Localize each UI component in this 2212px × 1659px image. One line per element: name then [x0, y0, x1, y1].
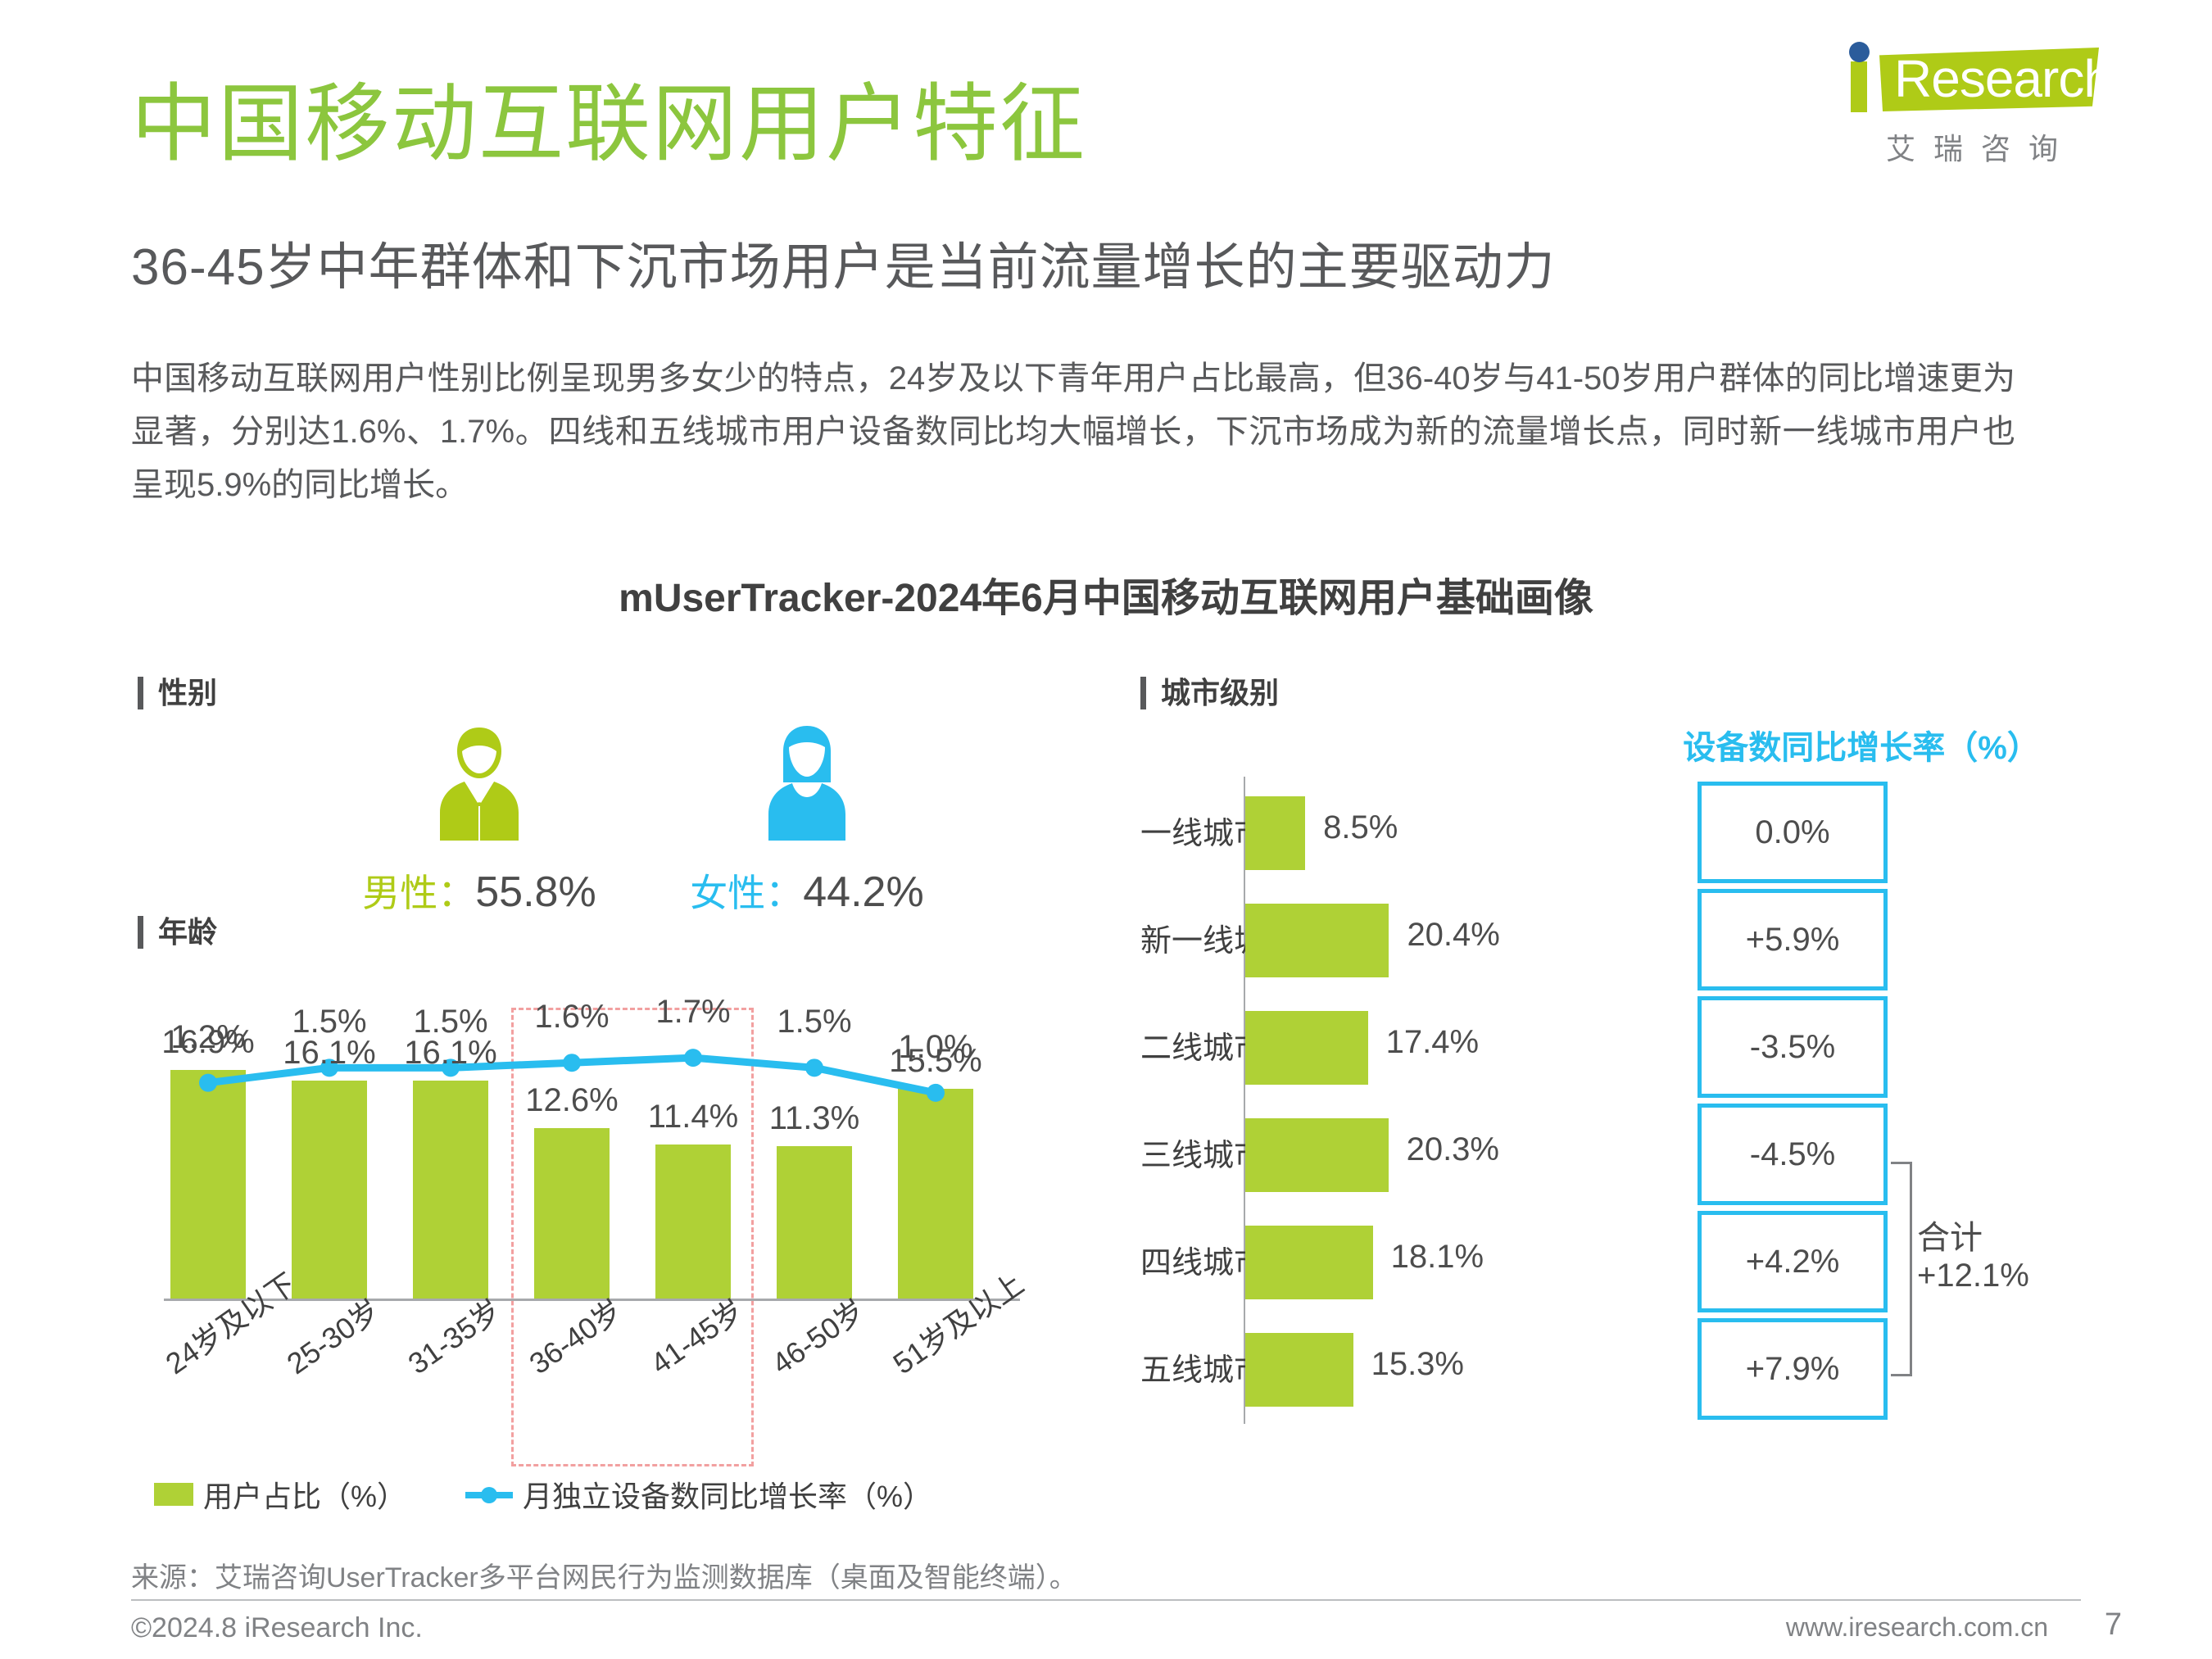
- age-bar-value: 11.4%: [628, 1099, 759, 1135]
- city-row: 五线城市15.3%+7.9%: [1140, 1315, 2164, 1423]
- age-bar-value: 12.6%: [506, 1082, 637, 1119]
- source-note: 来源：艾瑞咨询UserTracker多平台网民行为监测数据库（桌面及智能终端）。: [131, 1555, 1077, 1595]
- male-person-icon: [344, 721, 614, 844]
- city-bar: [1245, 1333, 1353, 1407]
- gender-female-label: 女性：44.2%: [672, 863, 942, 918]
- female-person-icon: [672, 721, 942, 844]
- age-line-value: 1.5%: [264, 1004, 395, 1040]
- city-growth-header: 设备数同比增长率（%）: [1648, 721, 2074, 768]
- city-growth-box: +5.9%: [1698, 889, 1888, 990]
- city-chart: 设备数同比增长率（%） 一线城市8.5%0.0%新一线城市20.4%+5.9%二…: [1140, 721, 2164, 1442]
- legend-item-bar: 用户占比（%）: [154, 1473, 406, 1516]
- legend-bar-label: 用户占比（%）: [203, 1473, 406, 1516]
- city-label: 一线城市: [1140, 808, 1232, 853]
- city-total-bracket-icon: [1891, 1162, 1912, 1376]
- city-total: 合计 +12.1%: [1917, 1219, 2114, 1294]
- page-title: 中国移动互联网用户特征: [131, 78, 1086, 171]
- city-row: 二线城市17.4%-3.5%: [1140, 993, 2164, 1101]
- city-bar-value: 15.3%: [1371, 1346, 1464, 1383]
- age-line-point: [805, 1058, 823, 1077]
- city-bar-value: 8.5%: [1323, 809, 1398, 846]
- city-label: 新一线城市: [1140, 915, 1232, 960]
- city-total-label: 合计: [1917, 1219, 2114, 1257]
- footer-divider: [131, 1599, 2081, 1601]
- city-growth-box: +4.2%: [1698, 1211, 1888, 1312]
- age-line-value: 1.6%: [506, 999, 637, 1036]
- gender-female: 女性：44.2%: [672, 721, 942, 918]
- page-number: 7: [2105, 1607, 2122, 1643]
- gender-male-label: 男性：55.8%: [344, 863, 614, 918]
- age-line-value: 1.5%: [385, 1004, 516, 1040]
- city-total-value: +12.1%: [1917, 1257, 2114, 1294]
- gender-male: 男性：55.8%: [344, 721, 614, 918]
- gender-female-value: 44.2%: [803, 868, 923, 916]
- age-line-point: [563, 1054, 581, 1072]
- city-label: 三线城市: [1140, 1130, 1232, 1175]
- age-line-value: 1.2%: [143, 1019, 274, 1056]
- city-bar: [1245, 1226, 1373, 1299]
- gender-section: 男性：55.8% 女性：44.2%: [131, 705, 1032, 918]
- city-row: 一线城市8.5%0.0%: [1140, 778, 2164, 886]
- city-bar: [1245, 904, 1389, 977]
- city-label: 五线城市: [1140, 1344, 1232, 1389]
- city-bar: [1245, 1118, 1389, 1192]
- city-growth-box: -4.5%: [1698, 1104, 1888, 1205]
- city-row: 新一线城市20.4%+5.9%: [1140, 886, 2164, 994]
- logo-letter-i-stem: [1851, 61, 1867, 112]
- city-growth-box: -3.5%: [1698, 996, 1888, 1098]
- page-header: 中国移动互联网用户特征 36-45岁中年群体和下沉市场用户是当前流量增长的主要驱…: [0, 0, 2212, 328]
- section-label-city: 城市级别: [1140, 677, 1279, 709]
- legend-line-marker-icon: [465, 1483, 513, 1506]
- logo-letter-i-dot-icon: [1849, 42, 1870, 62]
- gender-female-name: 女性：: [690, 872, 803, 914]
- gender-male-value: 55.8%: [475, 868, 596, 916]
- age-line-point: [199, 1074, 217, 1092]
- age-line-value: 1.7%: [628, 994, 759, 1031]
- city-bar-value: 18.1%: [1391, 1239, 1484, 1276]
- city-growth-box: 0.0%: [1698, 782, 1888, 883]
- city-bar-value: 20.4%: [1407, 917, 1499, 954]
- logo-wordmark: Research: [1894, 49, 2112, 108]
- legend-bar-swatch-icon: [154, 1483, 193, 1506]
- age-legend: 用户占比（%） 月独立设备数同比增长率（%）: [154, 1473, 1088, 1522]
- city-bar-value: 17.4%: [1386, 1024, 1479, 1061]
- city-bar: [1245, 1011, 1368, 1085]
- page-subtitle: 36-45岁中年群体和下沉市场用户是当前流量增长的主要驱动力: [131, 225, 1556, 299]
- city-row: 三线城市20.3%-4.5%: [1140, 1100, 2164, 1208]
- logo-mark: Research: [1843, 39, 2105, 117]
- age-bar-value: 11.3%: [749, 1100, 880, 1137]
- copyright: ©2024.8 iResearch Inc.: [131, 1612, 423, 1644]
- age-line-value: 1.5%: [749, 1004, 880, 1040]
- legend-item-line: 月独立设备数同比增长率（%）: [465, 1473, 932, 1516]
- legend-line-label: 月独立设备数同比增长率（%）: [523, 1473, 932, 1516]
- age-line-value: 1.0%: [870, 1029, 1001, 1066]
- chart-title: mUserTracker-2024年6月中国移动互联网用户基础画像: [0, 565, 2212, 623]
- age-chart: 16.9%16.1%16.1%12.6%11.4%11.3%15.5% 1.2%…: [131, 942, 1065, 1532]
- city-label: 二线城市: [1140, 1022, 1232, 1067]
- iresearch-logo: Research 艾瑞咨询: [1843, 39, 2114, 170]
- website-link[interactable]: www.iresearch.com.cn: [1786, 1612, 2048, 1643]
- age-line-point: [927, 1084, 945, 1102]
- intro-paragraph: 中国移动互联网用户性别比例呈现男多女少的特点，24岁及以下青年用户占比最高，但3…: [131, 352, 2015, 511]
- age-line-point: [684, 1049, 702, 1067]
- city-bar-value: 20.3%: [1407, 1131, 1499, 1168]
- gender-male-name: 男性：: [362, 872, 475, 914]
- city-bar: [1245, 796, 1305, 870]
- city-label: 四线城市: [1140, 1237, 1232, 1282]
- logo-chinese-name: 艾瑞咨询: [1886, 125, 2076, 168]
- city-growth-box: +7.9%: [1698, 1318, 1888, 1420]
